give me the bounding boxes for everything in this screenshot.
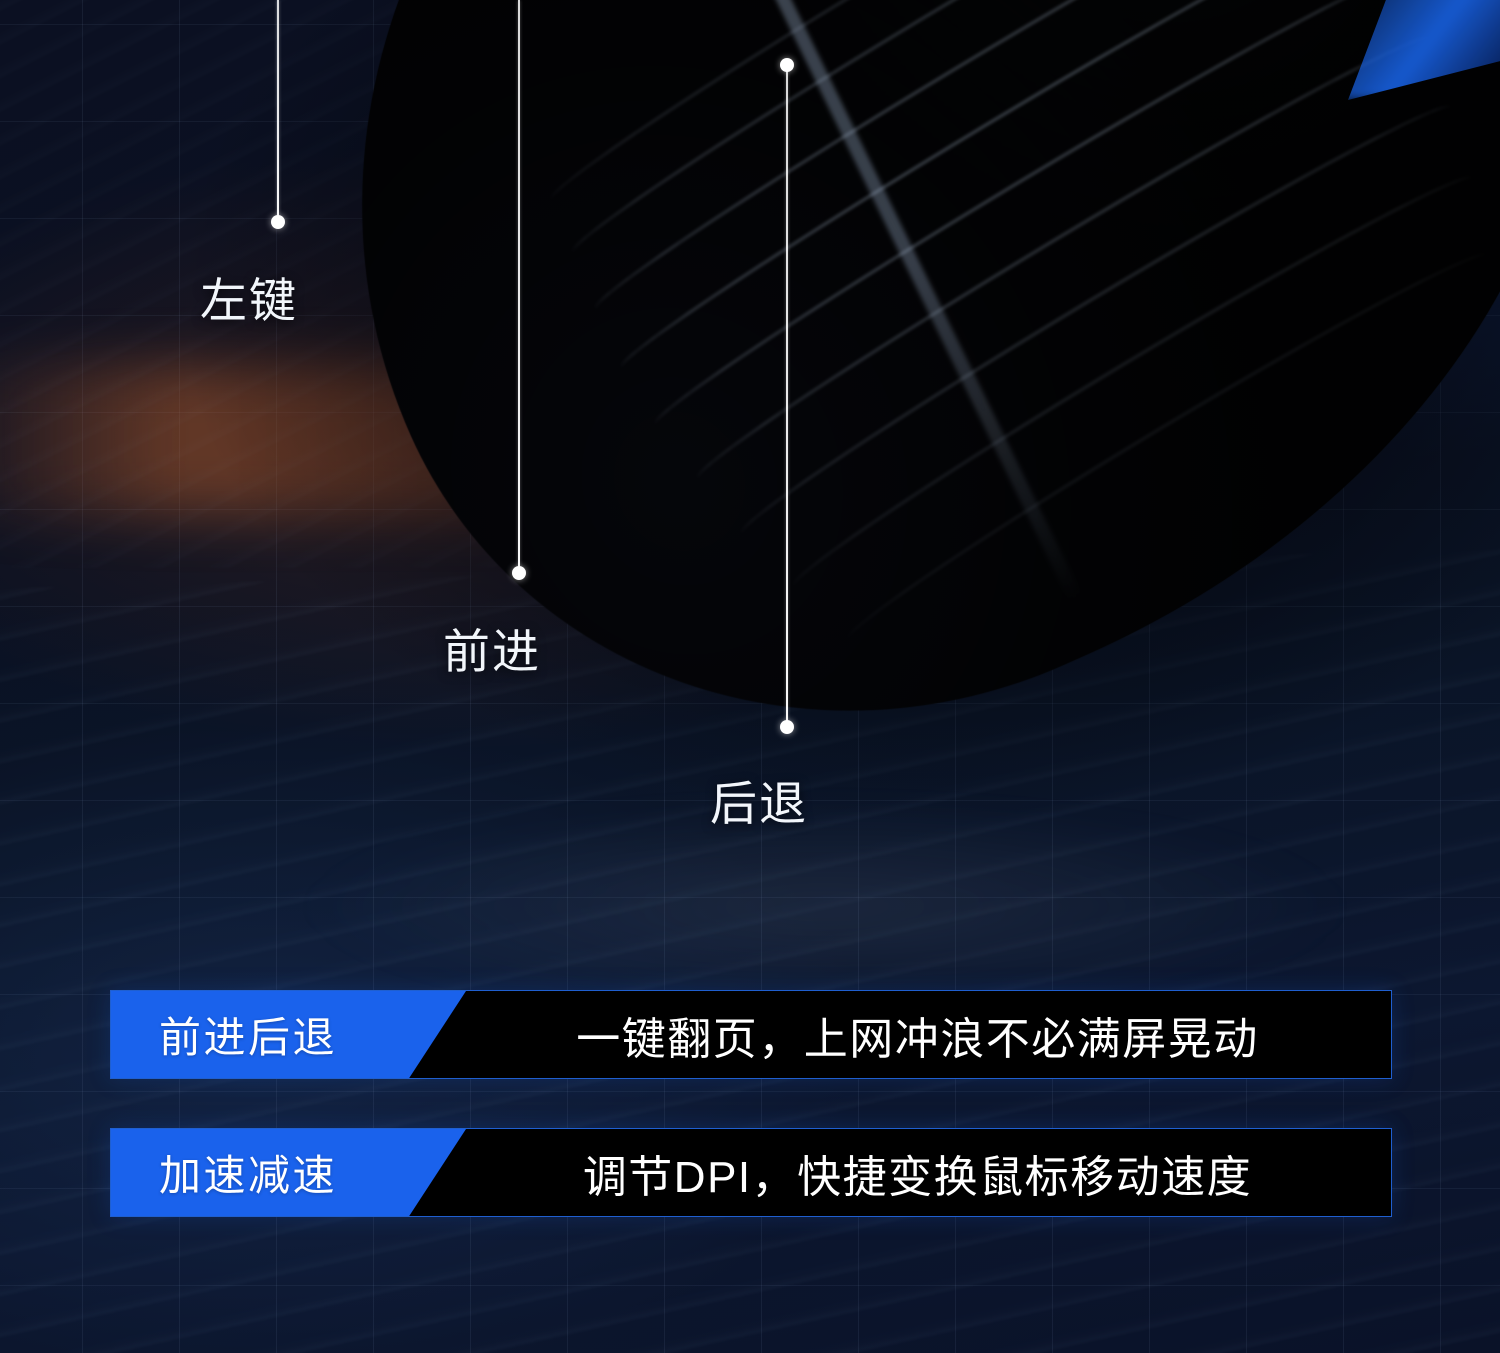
leader-dot: [271, 215, 285, 229]
rgb-led-glow: [1330, 0, 1500, 100]
leader-dot: [512, 566, 526, 580]
amber-glow-band: [0, 365, 1020, 514]
mouse-shadow: [165, 0, 1500, 870]
mouse-side-ridges: [513, 0, 1500, 787]
feature-description-text: 一键翻页，上网冲浪不必满屏晃动: [576, 1003, 1259, 1067]
feature-description-container: 调节DPI，快捷变换鼠标移动速度: [466, 1129, 1391, 1216]
feature-banner-dpi-speed: 加速减速 调节DPI，快捷变换鼠标移动速度: [110, 1128, 1392, 1217]
gaming-mouse-image: [330, 0, 1500, 660]
feature-banner-page-navigation: 前进后退 一键翻页，上网冲浪不必满屏晃动: [110, 990, 1392, 1079]
feature-description-container: 一键翻页，上网冲浪不必满屏晃动: [466, 991, 1391, 1078]
feature-tag-label: 前进后退: [159, 1004, 337, 1065]
callout-label-left-button: 左键: [200, 262, 298, 331]
product-feature-poster: 左键 前进 后退 前进后退 一键翻页，上网冲浪不必满屏晃动 加速减速 调节DPI…: [0, 0, 1500, 1353]
feature-tag-label: 加速减速: [159, 1142, 337, 1203]
mouse-highlight-edge: [632, 0, 1083, 602]
leader-line: [518, 0, 520, 573]
leader-line: [277, 0, 279, 222]
mouse-shell: [165, 0, 1500, 870]
feature-description-text: 调节DPI，快捷变换鼠标移动速度: [583, 1141, 1252, 1205]
callout-label-back: 后退: [710, 765, 808, 834]
leader-dot: [780, 720, 794, 734]
feature-tag-page-navigation: 前进后退: [111, 991, 466, 1078]
feature-tag-dpi-speed: 加速减速: [111, 1129, 466, 1216]
leader-line: [786, 65, 788, 727]
lower-wave-texture: [0, 546, 1500, 1353]
callout-label-forward: 前进: [443, 613, 541, 682]
upper-texture-lines: [0, 0, 1125, 568]
